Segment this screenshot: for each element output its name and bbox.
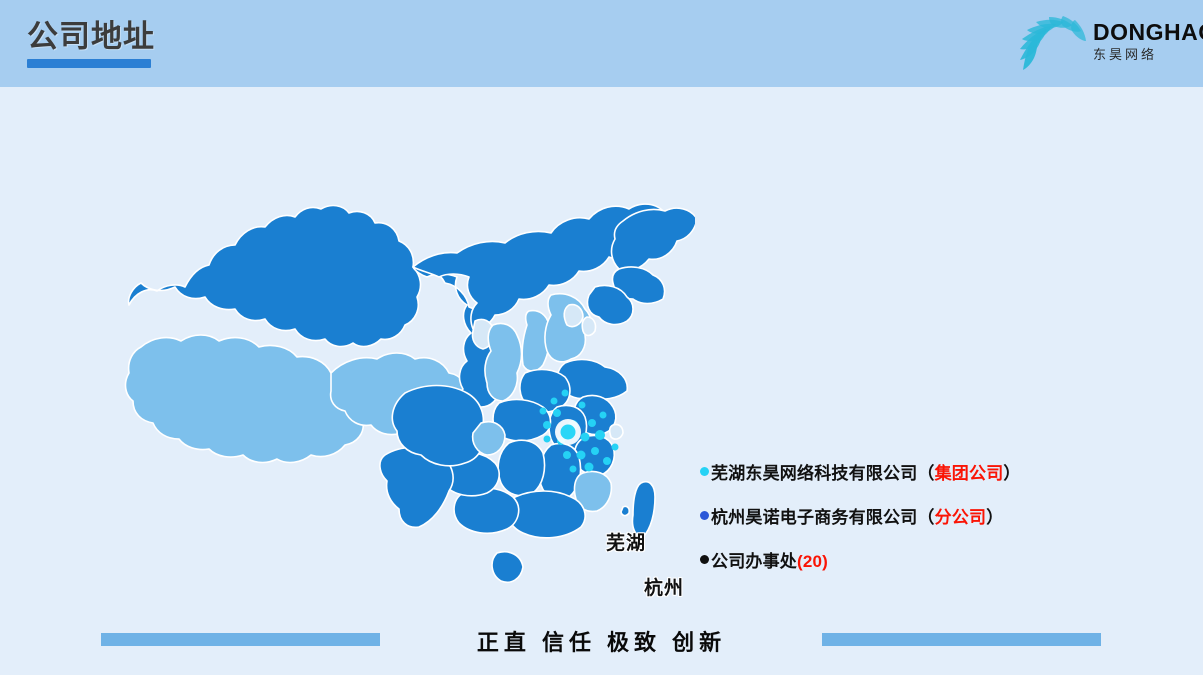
legend: 芜湖东昊网络科技有限公司（集团公司） 杭州昊诺电子商务有限公司（分公司） 公司办… xyxy=(700,460,1120,592)
legend-paren-open: （ xyxy=(917,464,934,483)
title-underline xyxy=(27,59,151,68)
city-label-hangzhou: 杭州 xyxy=(644,573,684,600)
logo-text-block: DONGHAO 东昊网络 xyxy=(1093,20,1193,64)
logo-name: DONGHAO xyxy=(1093,20,1193,45)
legend-company-name: 芜湖东昊网络科技有限公司 xyxy=(711,464,917,483)
logo-subtitle: 东昊网络 xyxy=(1093,46,1193,64)
legend-paren-close: ） xyxy=(1003,464,1020,483)
legend-item-text: 公司办事处(20) xyxy=(711,547,828,572)
china-map-svg xyxy=(95,125,695,605)
legend-tag: 集团公司 xyxy=(935,464,1004,483)
legend-bullet-cyan xyxy=(700,467,709,476)
company-logo: DONGHAO 东昊网络 xyxy=(1013,6,1193,78)
legend-tag: (20) xyxy=(797,552,828,571)
slide-header: 公司地址 DONGHAO 东昊网络 xyxy=(0,0,1203,87)
hq-marker xyxy=(555,419,581,445)
legend-company-name: 公司办事处 xyxy=(711,552,797,571)
feather-fan-icon xyxy=(1013,8,1089,74)
legend-company-name: 杭州昊诺电子商务有限公司 xyxy=(711,508,917,527)
legend-item-branch-company: 杭州昊诺电子商务有限公司（分公司） xyxy=(700,504,1120,526)
legend-item-offices: 公司办事处(20) xyxy=(700,548,1120,570)
legend-item-group-company: 芜湖东昊网络科技有限公司（集团公司） xyxy=(700,460,1120,482)
legend-item-text: 芜湖东昊网络科技有限公司（集团公司） xyxy=(711,459,1021,484)
china-map: 芜湖 杭州 xyxy=(95,125,695,605)
legend-paren-open: （ xyxy=(917,508,934,527)
legend-item-text: 杭州昊诺电子商务有限公司（分公司） xyxy=(711,503,1003,528)
map-provinces xyxy=(126,204,695,582)
city-label-wuhu: 芜湖 xyxy=(606,528,646,555)
legend-bullet-blue xyxy=(700,511,709,520)
legend-tag: 分公司 xyxy=(935,508,987,527)
title-block: 公司地址 xyxy=(27,18,155,68)
legend-paren-close: ） xyxy=(986,508,1003,527)
legend-bullet-black xyxy=(700,555,709,564)
footer-bar-right xyxy=(822,633,1101,646)
page-title: 公司地址 xyxy=(27,18,155,56)
